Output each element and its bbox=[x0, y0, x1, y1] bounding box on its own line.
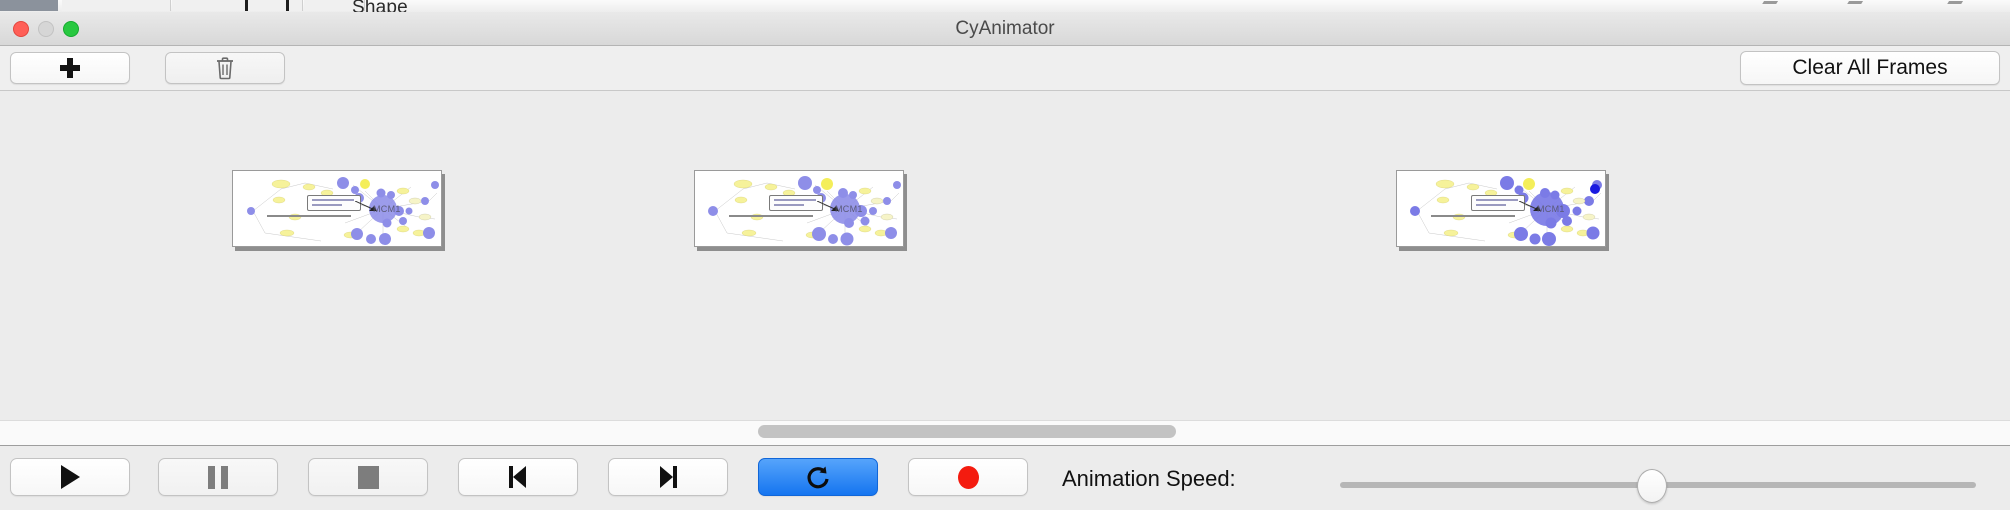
skip-end-button[interactable] bbox=[608, 458, 728, 496]
annotation-note bbox=[769, 195, 823, 211]
caption-text-line bbox=[1431, 215, 1515, 217]
background-tick bbox=[245, 0, 248, 11]
background-toolbar-chip bbox=[0, 0, 58, 11]
clear-all-frames-button[interactable]: Clear All Frames bbox=[1740, 51, 2000, 85]
timeline-scrollbar-thumb[interactable] bbox=[758, 425, 1176, 438]
add-frame-button[interactable] bbox=[10, 52, 130, 84]
background-tick bbox=[286, 0, 289, 11]
player-controls-bar: Animation Speed: bbox=[0, 446, 2010, 510]
window-title: CyAnimator bbox=[0, 18, 2010, 40]
plus-icon bbox=[60, 58, 80, 78]
frame-thumbnail-3[interactable]: MCM1 bbox=[1396, 170, 1606, 247]
delete-frame-button[interactable] bbox=[165, 52, 285, 84]
play-icon bbox=[61, 465, 80, 489]
caption-text-line bbox=[729, 215, 813, 217]
hub-node-label: MCM1 bbox=[373, 204, 401, 214]
animation-speed-slider-knob[interactable] bbox=[1637, 469, 1667, 503]
stop-button[interactable] bbox=[308, 458, 428, 496]
pause-button[interactable] bbox=[158, 458, 278, 496]
skip-start-button[interactable] bbox=[458, 458, 578, 496]
toolbar: Clear All Frames bbox=[0, 46, 2010, 91]
skip-to-end-icon bbox=[657, 466, 679, 488]
frame-thumbnail-2[interactable]: MCM1 bbox=[694, 170, 904, 247]
animation-speed-label: Animation Speed: bbox=[1062, 466, 1236, 492]
pause-icon bbox=[208, 466, 228, 489]
hub-node-label: MCM1 bbox=[1537, 204, 1565, 214]
record-button[interactable] bbox=[908, 458, 1028, 496]
timeline-panel[interactable]: MCM1 bbox=[0, 91, 2010, 318]
record-icon bbox=[958, 466, 979, 489]
trash-icon bbox=[215, 56, 235, 80]
caption-text-line bbox=[267, 215, 351, 217]
annotation-note bbox=[307, 195, 361, 211]
play-button[interactable] bbox=[10, 458, 130, 496]
clear-all-frames-label: Clear All Frames bbox=[1792, 56, 1947, 80]
title-bar[interactable]: CyAnimator bbox=[0, 12, 2010, 46]
cyanimator-window: Shape CyAnimator Clear All Frames bbox=[0, 0, 2010, 510]
frame-thumbnail-1[interactable]: MCM1 bbox=[232, 170, 442, 247]
skip-to-start-icon bbox=[507, 466, 529, 488]
annotation-note bbox=[1471, 195, 1525, 211]
background-segment bbox=[62, 0, 171, 11]
loop-icon bbox=[805, 464, 831, 490]
background-segment bbox=[172, 0, 303, 11]
loop-button[interactable] bbox=[758, 458, 878, 496]
hub-node-label: MCM1 bbox=[835, 204, 863, 214]
stop-icon bbox=[358, 466, 379, 489]
